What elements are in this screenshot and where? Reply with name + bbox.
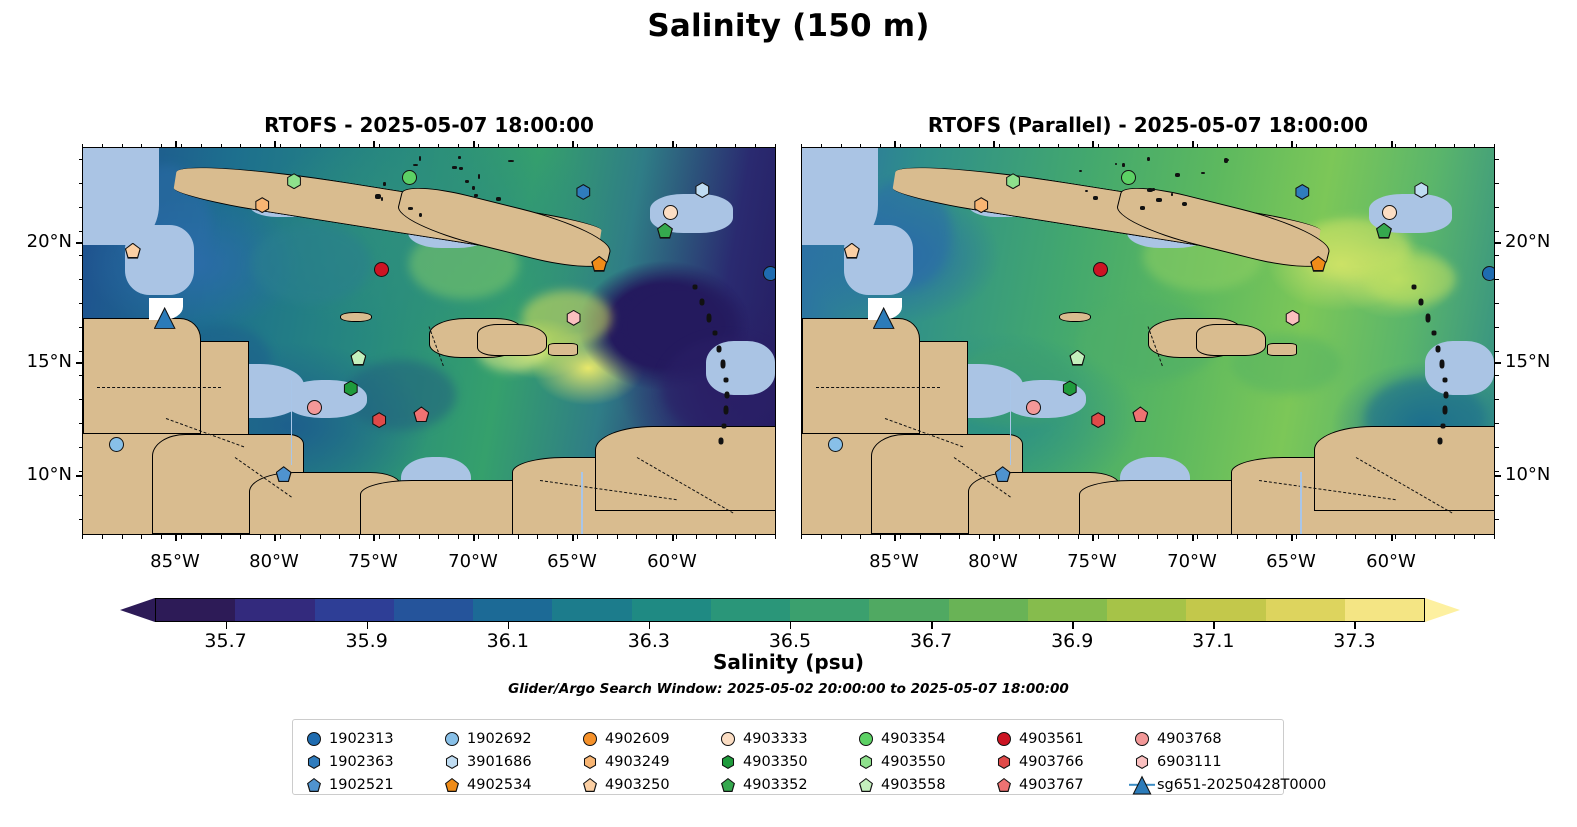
panel-title-right: RTOFS (Parallel) - 2025-05-07 18:00:00 (801, 113, 1495, 137)
map-panel-rtofs-parallel[interactable] (801, 147, 1495, 535)
island-bahamas (1182, 202, 1187, 207)
legend-item-4903354[interactable]: 4903354 (855, 729, 946, 749)
marker-circle-icon (307, 400, 322, 415)
x-minor-tick-top (379, 144, 380, 148)
marker-hexagon-icon (445, 755, 459, 769)
legend-symbol (441, 775, 463, 795)
y-minor-tick (1495, 207, 1499, 208)
y-tick (76, 475, 82, 477)
colorbar-tick-label: 37.3 (1309, 630, 1399, 652)
y-minor-tick (79, 231, 83, 232)
island-bahamas (474, 194, 477, 197)
x-tick (672, 535, 674, 541)
legend-label: 4903550 (881, 754, 946, 770)
x-minor-tick-top (1157, 144, 1158, 148)
x-minor-tick-top (775, 144, 776, 148)
x-minor-tick-top (181, 144, 182, 148)
x-minor-tick-top (1118, 144, 1119, 148)
x-minor-tick-top (1138, 144, 1139, 148)
island-antilles (1442, 377, 1447, 382)
x-minor-tick-top (1217, 144, 1218, 148)
x-minor-tick (676, 535, 677, 539)
x-minor-tick (181, 535, 182, 539)
colorbar-tick (931, 622, 932, 629)
marker-circle-icon (1382, 205, 1397, 220)
marker-circle-icon (1121, 170, 1136, 185)
y-tick-label: 15°N (8, 352, 72, 372)
landmass (1196, 324, 1265, 357)
x-minor-tick (735, 535, 736, 539)
legend-label: 4903333 (743, 731, 808, 747)
island-bahamas (375, 194, 380, 199)
search-window-caption: Glider/Argo Search Window: 2025-05-02 20… (0, 681, 1577, 697)
x-minor-tick (201, 535, 202, 539)
marker-circle-icon (828, 437, 843, 452)
y-minor-tick (1495, 375, 1499, 376)
x-tick-label: 70°W (433, 551, 513, 572)
marker-circle-icon (1135, 732, 1149, 746)
colorbar-tick-label: 35.7 (181, 630, 271, 652)
x-minor-tick (860, 535, 861, 539)
marker-hexagon-icon (583, 755, 597, 769)
legend-symbol (1131, 775, 1153, 795)
x-minor-tick-top (438, 144, 439, 148)
y-minor-tick (79, 159, 83, 160)
legend-item-1902692[interactable]: 1902692 (441, 729, 532, 749)
island-bahamas (472, 186, 475, 190)
legend-symbol (855, 775, 877, 795)
legend-symbol (717, 752, 739, 772)
legend-symbol (717, 775, 739, 795)
marker-circle-icon (663, 205, 678, 220)
marker-pentagon-icon (859, 778, 873, 792)
y-minor-tick (1495, 183, 1499, 184)
legend-symbol (303, 752, 325, 772)
marker-hexagon-icon (859, 755, 873, 769)
island-antilles (724, 406, 729, 415)
x-minor-tick (102, 535, 103, 539)
island-bahamas (496, 197, 501, 200)
legend-label: 4903558 (881, 777, 946, 793)
x-tick-top (175, 141, 177, 147)
x-minor-tick-top (801, 144, 802, 148)
x-minor-tick-top (498, 144, 499, 148)
legend-symbol (303, 729, 325, 749)
x-minor-tick-top (339, 144, 340, 148)
x-minor-tick (597, 535, 598, 539)
x-minor-tick (1157, 535, 1158, 539)
y-minor-tick (1495, 447, 1499, 448)
landmass (802, 318, 920, 434)
marker-pentagon-icon (307, 778, 321, 792)
colorbar-band-12 (1107, 599, 1186, 621)
colorbar-tick (649, 622, 650, 629)
x-tick-label: 80°W (234, 551, 314, 572)
x-minor-tick (161, 535, 162, 539)
marker-circle-icon (402, 170, 417, 185)
island-antilles (1425, 313, 1430, 322)
island-bahamas (383, 182, 385, 187)
x-minor-tick-top (320, 144, 321, 148)
marker-circle-icon (445, 732, 459, 746)
legend-symbol (579, 729, 601, 749)
legend-box[interactable]: 1902313190236319025211902692390168649025… (292, 719, 1284, 795)
legend-symbol (579, 775, 601, 795)
x-minor-tick (280, 535, 281, 539)
x-minor-tick (1197, 535, 1198, 539)
x-minor-tick (920, 535, 921, 539)
x-minor-tick (617, 535, 618, 539)
island-antilles (1437, 438, 1442, 445)
legend-item-4902609[interactable]: 4902609 (579, 729, 670, 749)
legend-item-4903350[interactable]: 4903350 (717, 752, 808, 772)
marker-pentagon-icon (997, 778, 1011, 792)
x-minor-tick-top (221, 144, 222, 148)
island-bahamas (1140, 206, 1145, 209)
x-minor-tick (82, 535, 83, 539)
island-bahamas (419, 156, 421, 161)
y-tick (1495, 242, 1501, 244)
legend-label: 1902692 (467, 731, 532, 747)
x-minor-tick (399, 535, 400, 539)
marker-circle-icon (109, 437, 124, 452)
x-minor-tick (518, 535, 519, 539)
x-minor-tick (755, 535, 756, 539)
legend-label: 4903352 (743, 777, 808, 793)
x-minor-tick (841, 535, 842, 539)
x-tick-label: 65°W (1251, 551, 1331, 572)
legend-item-4903249[interactable]: 4903249 (579, 752, 670, 772)
landmass (548, 343, 578, 356)
colorbar-tick-label: 36.7 (886, 630, 976, 652)
colorbar-tick-label: 36.9 (1027, 630, 1117, 652)
x-minor-tick-top (260, 144, 261, 148)
x-minor-tick (557, 535, 558, 539)
cuba-landmass (173, 171, 602, 271)
legend-item-sg651-20250428T0000[interactable]: sg651-20250428T0000 (1131, 775, 1326, 795)
legend-item-1902521[interactable]: 1902521 (303, 775, 394, 795)
y-minor-tick (79, 471, 83, 472)
x-minor-tick-top (999, 144, 1000, 148)
x-minor-tick (1078, 535, 1079, 539)
x-minor-tick (1138, 535, 1139, 539)
island-antilles (1443, 392, 1448, 399)
y-tick (76, 362, 82, 364)
colorbar-tick (1072, 622, 1073, 629)
x-minor-tick-top (300, 144, 301, 148)
x-minor-tick (940, 535, 941, 539)
x-minor-tick (478, 535, 479, 539)
legend-symbol (1131, 752, 1153, 772)
x-tick (1391, 535, 1393, 541)
island-bahamas (1171, 193, 1173, 195)
legend-item-4903250[interactable]: 4903250 (579, 775, 670, 795)
y-minor-tick (1495, 423, 1499, 424)
marker-pentagon-icon (445, 778, 459, 792)
page-title: Salinity (150 m) (0, 8, 1577, 44)
x-minor-tick (775, 535, 776, 539)
x-minor-tick-top (419, 144, 420, 148)
x-minor-tick (1256, 535, 1257, 539)
marker-circle-icon (307, 732, 321, 746)
island-antilles (723, 377, 728, 382)
x-tick-label: 85°W (135, 551, 215, 572)
legend-label: 1902313 (329, 731, 394, 747)
legend-item-4903352[interactable]: 4903352 (717, 775, 808, 795)
colorbar[interactable] (120, 598, 1460, 622)
x-minor-tick-top (359, 144, 360, 148)
legend-item-4903550[interactable]: 4903550 (855, 752, 946, 772)
legend-label: 4903561 (1019, 731, 1084, 747)
x-minor-tick-top (1276, 144, 1277, 148)
x-minor-tick (1237, 535, 1238, 539)
x-tick-label: 80°W (953, 551, 1033, 572)
marker-circle-icon (1026, 400, 1041, 415)
legend-symbol (855, 752, 877, 772)
x-minor-tick-top (1316, 144, 1317, 148)
x-minor-tick (359, 535, 360, 539)
x-minor-tick-top (1098, 144, 1099, 148)
legend-label: 4902609 (605, 731, 670, 747)
y-minor-tick (1495, 399, 1499, 400)
marker-circle-icon (583, 732, 597, 746)
legend-label: 4903768 (1157, 731, 1222, 747)
x-minor-tick-top (1454, 144, 1455, 148)
colorbar-tick (508, 622, 509, 629)
island-antilles (712, 331, 717, 336)
island-antilles (1436, 345, 1441, 352)
x-minor-tick-top (1039, 144, 1040, 148)
y-tick-label: 15°N (1505, 352, 1550, 372)
island-bahamas (1093, 196, 1098, 200)
x-minor-tick (1039, 535, 1040, 539)
landmass (1314, 426, 1494, 511)
legend-label: 1902521 (329, 777, 394, 793)
legend-symbol (993, 775, 1015, 795)
y-tick (1495, 362, 1501, 364)
y-tick-label: 10°N (1505, 465, 1550, 485)
x-minor-tick (438, 535, 439, 539)
y-minor-tick (79, 303, 83, 304)
x-minor-tick (696, 535, 697, 539)
x-minor-tick-top (1415, 144, 1416, 148)
x-minor-tick-top (1435, 144, 1436, 148)
x-tick-top (1092, 141, 1094, 147)
legend-label: sg651-20250428T0000 (1157, 777, 1326, 793)
legend-item-4903766[interactable]: 4903766 (993, 752, 1084, 772)
river (1010, 380, 1012, 465)
panel-title-left: RTOFS - 2025-05-07 18:00:00 (82, 113, 776, 137)
x-minor-tick-top (716, 144, 717, 148)
x-minor-tick-top (161, 144, 162, 148)
legend-item-4902534[interactable]: 4902534 (441, 775, 532, 795)
marker-circle-icon (374, 262, 389, 277)
y-minor-tick (1495, 519, 1499, 520)
x-tick (373, 535, 375, 541)
x-minor-tick (379, 535, 380, 539)
x-minor-tick (1435, 535, 1436, 539)
island-bahamas (1201, 172, 1205, 174)
x-tick-label: 85°W (854, 551, 934, 572)
x-minor-tick-top (1256, 144, 1257, 148)
x-minor-tick-top (458, 144, 459, 148)
colorbar-extend-low (120, 598, 155, 622)
x-minor-tick-top (537, 144, 538, 148)
x-tick (1192, 535, 1194, 541)
x-minor-tick-top (240, 144, 241, 148)
legend-symbol (1131, 729, 1153, 749)
legend-item-4903768[interactable]: 4903768 (1131, 729, 1222, 749)
landmass (83, 318, 201, 434)
legend-item-1902363[interactable]: 1902363 (303, 752, 394, 772)
x-minor-tick-top (979, 144, 980, 148)
river (1300, 472, 1302, 534)
colorbar-band-1 (235, 599, 314, 621)
x-minor-tick-top (1474, 144, 1475, 148)
x-tick-top (1291, 141, 1293, 147)
y-tick-label: 10°N (8, 465, 72, 485)
x-minor-tick (122, 535, 123, 539)
island-antilles (1431, 331, 1436, 336)
colorbar-tick (367, 622, 368, 629)
legend-label: 3901686 (467, 754, 532, 770)
island-bahamas (408, 207, 413, 210)
x-tick-top (473, 141, 475, 147)
x-minor-tick (716, 535, 717, 539)
x-minor-tick (1019, 535, 1020, 539)
colorbar-band-15 (1345, 599, 1424, 621)
colorbar-tick (1354, 622, 1355, 629)
x-minor-tick (999, 535, 1000, 539)
x-minor-tick-top (82, 144, 83, 148)
marker-pentagon-icon (721, 778, 735, 792)
legend-label: 4903250 (605, 777, 670, 793)
colorbar-tick-label: 36.3 (604, 630, 694, 652)
landmass (595, 426, 775, 511)
x-minor-tick (1118, 535, 1119, 539)
x-minor-tick-top (959, 144, 960, 148)
x-minor-tick (979, 535, 980, 539)
x-minor-tick-top (1078, 144, 1079, 148)
x-minor-tick (1296, 535, 1297, 539)
x-minor-tick (880, 535, 881, 539)
x-tick (993, 535, 995, 541)
legend-label: 4903767 (1019, 777, 1084, 793)
x-minor-tick (1058, 535, 1059, 539)
country-border (816, 387, 941, 388)
y-minor-tick (79, 423, 83, 424)
legend-label: 1902363 (329, 754, 394, 770)
y-tick-label: 20°N (1505, 232, 1550, 252)
map-panel-rtofs[interactable] (82, 147, 776, 535)
colorbar-band-0 (156, 599, 235, 621)
y-minor-tick (79, 255, 83, 256)
x-tick-top (993, 141, 995, 147)
marker-circle-icon (859, 732, 873, 746)
x-minor-tick (1316, 535, 1317, 539)
legend-item-4903561[interactable]: 4903561 (993, 729, 1084, 749)
x-tick (572, 535, 574, 541)
x-minor-tick (1276, 535, 1277, 539)
x-tick-top (672, 141, 674, 147)
y-tick (76, 242, 82, 244)
river (291, 380, 293, 465)
colorbar-tick (790, 622, 791, 629)
x-tick (473, 535, 475, 541)
island-antilles (718, 438, 723, 445)
x-tick-top (373, 141, 375, 147)
y-minor-tick (1495, 231, 1499, 232)
x-minor-tick-top (141, 144, 142, 148)
legend-label: 6903111 (1157, 754, 1222, 770)
legend-label: 4903354 (881, 731, 946, 747)
x-tick (175, 535, 177, 541)
x-minor-tick-top (518, 144, 519, 148)
marker-hexagon-icon (307, 755, 321, 769)
landmass (1059, 312, 1090, 322)
x-minor-tick (577, 535, 578, 539)
x-minor-tick-top (1058, 144, 1059, 148)
x-tick (894, 535, 896, 541)
island-bahamas (1156, 198, 1161, 202)
legend-item-1902313[interactable]: 1902313 (303, 729, 394, 749)
colorbar-band-13 (1186, 599, 1265, 621)
legend-item-4903767[interactable]: 4903767 (993, 775, 1084, 795)
x-minor-tick-top (656, 144, 657, 148)
y-tick-label: 20°N (8, 232, 72, 252)
island-antilles (721, 360, 726, 369)
legend-label: 4903350 (743, 754, 808, 770)
legend-symbol (441, 752, 463, 772)
x-minor-tick-top (821, 144, 822, 148)
x-minor-tick-top (478, 144, 479, 148)
x-tick-label: 75°W (1052, 551, 1132, 572)
marker-hexagon-icon (721, 755, 735, 769)
x-minor-tick (141, 535, 142, 539)
x-tick-label: 70°W (1152, 551, 1232, 572)
island-bahamas (1147, 188, 1153, 192)
legend-item-4903333[interactable]: 4903333 (717, 729, 808, 749)
colorbar-tick (1213, 622, 1214, 629)
legend-item-6903111[interactable]: 6903111 (1131, 752, 1222, 772)
x-minor-tick (656, 535, 657, 539)
x-minor-tick (260, 535, 261, 539)
y-minor-tick (79, 375, 83, 376)
island-antilles (693, 284, 698, 289)
x-minor-tick (1474, 535, 1475, 539)
y-minor-tick (1495, 255, 1499, 256)
y-minor-tick (79, 207, 83, 208)
x-minor-tick-top (676, 144, 677, 148)
legend-item-4903558[interactable]: 4903558 (855, 775, 946, 795)
x-minor-tick (1336, 535, 1337, 539)
legend-label: 4903249 (605, 754, 670, 770)
x-tick-label: 60°W (1351, 551, 1431, 572)
y-tick (1495, 475, 1501, 477)
colorbar-band-11 (1028, 599, 1107, 621)
eddy-texture (1366, 254, 1456, 304)
colorbar-band-5 (552, 599, 631, 621)
legend-item-3901686[interactable]: 3901686 (441, 752, 532, 772)
colorbar-tick-label: 36.5 (745, 630, 835, 652)
x-tick (1092, 535, 1094, 541)
island-antilles (1419, 299, 1424, 306)
x-minor-tick-top (102, 144, 103, 148)
x-tick (274, 535, 276, 541)
x-minor-tick-top (280, 144, 281, 148)
y-minor-tick (79, 447, 83, 448)
island-antilles (724, 392, 729, 399)
